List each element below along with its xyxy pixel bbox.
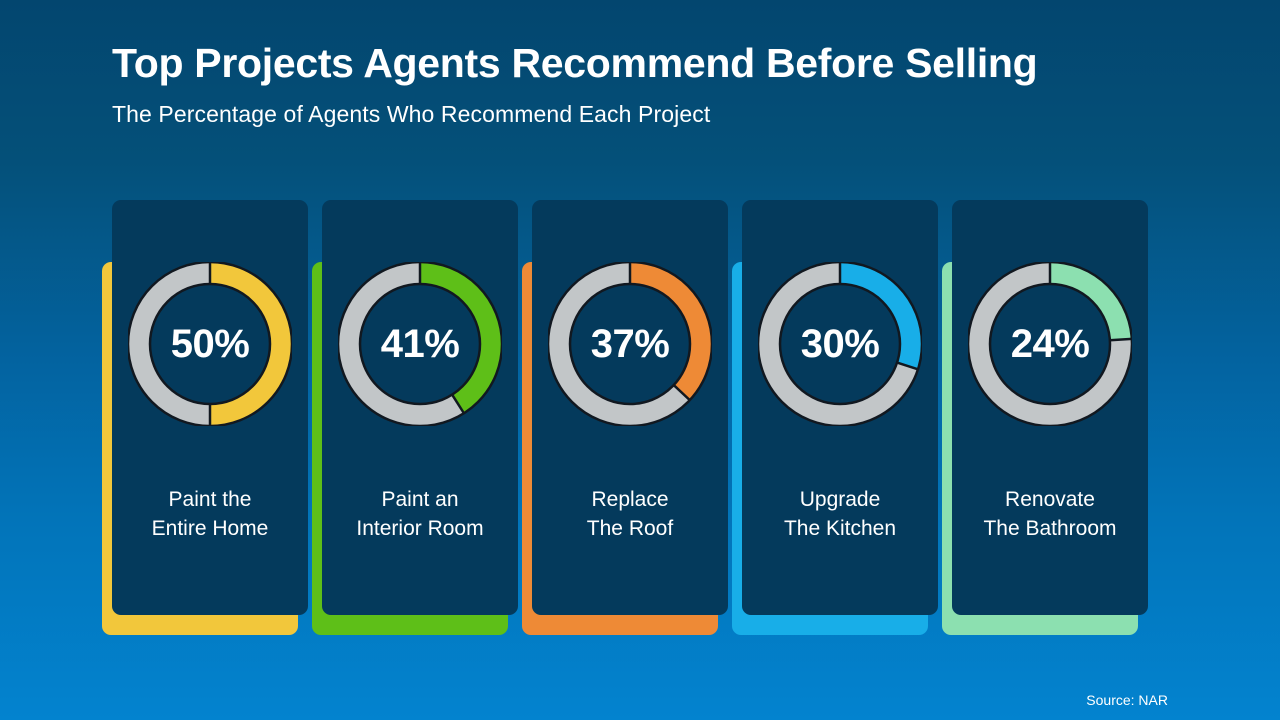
page-title: Top Projects Agents Recommend Before Sel… bbox=[112, 40, 1192, 87]
card-face: 50%Paint theEntire Home bbox=[112, 200, 308, 615]
project-card[interactable]: 37%ReplaceThe Roof bbox=[532, 200, 728, 615]
project-label-line-2: The Kitchen bbox=[742, 514, 938, 543]
donut-chart: 24% bbox=[968, 262, 1132, 426]
donut-chart: 50% bbox=[128, 262, 292, 426]
project-card[interactable]: 30%UpgradeThe Kitchen bbox=[742, 200, 938, 615]
source-attribution: Source: NAR bbox=[1086, 692, 1168, 708]
donut-value-label: 37% bbox=[548, 262, 712, 426]
project-label-line-1: Upgrade bbox=[742, 485, 938, 514]
donut-chart: 30% bbox=[758, 262, 922, 426]
card-face: 37%ReplaceThe Roof bbox=[532, 200, 728, 615]
donut-value-label: 41% bbox=[338, 262, 502, 426]
project-label-line-2: Entire Home bbox=[112, 514, 308, 543]
header: Top Projects Agents Recommend Before Sel… bbox=[112, 40, 1192, 128]
project-card[interactable]: 24%RenovateThe Bathroom bbox=[952, 200, 1148, 615]
project-label-line-1: Paint the bbox=[112, 485, 308, 514]
card-face: 24%RenovateThe Bathroom bbox=[952, 200, 1148, 615]
project-cards-row: 50%Paint theEntire Home41%Paint anInteri… bbox=[112, 200, 1172, 640]
project-card[interactable]: 50%Paint theEntire Home bbox=[112, 200, 308, 615]
project-label: Paint theEntire Home bbox=[112, 485, 308, 543]
project-card[interactable]: 41%Paint anInterior Room bbox=[322, 200, 518, 615]
project-label-line-2: The Bathroom bbox=[952, 514, 1148, 543]
project-label-line-1: Replace bbox=[532, 485, 728, 514]
project-label: Paint anInterior Room bbox=[322, 485, 518, 543]
project-label-line-2: The Roof bbox=[532, 514, 728, 543]
donut-chart: 41% bbox=[338, 262, 502, 426]
page-subtitle: The Percentage of Agents Who Recommend E… bbox=[112, 101, 1192, 128]
project-label: RenovateThe Bathroom bbox=[952, 485, 1148, 543]
donut-value-label: 30% bbox=[758, 262, 922, 426]
project-label-line-2: Interior Room bbox=[322, 514, 518, 543]
donut-chart: 37% bbox=[548, 262, 712, 426]
project-label-line-1: Paint an bbox=[322, 485, 518, 514]
project-label: UpgradeThe Kitchen bbox=[742, 485, 938, 543]
project-label: ReplaceThe Roof bbox=[532, 485, 728, 543]
donut-value-label: 50% bbox=[128, 262, 292, 426]
card-face: 41%Paint anInterior Room bbox=[322, 200, 518, 615]
project-label-line-1: Renovate bbox=[952, 485, 1148, 514]
card-face: 30%UpgradeThe Kitchen bbox=[742, 200, 938, 615]
donut-value-label: 24% bbox=[968, 262, 1132, 426]
